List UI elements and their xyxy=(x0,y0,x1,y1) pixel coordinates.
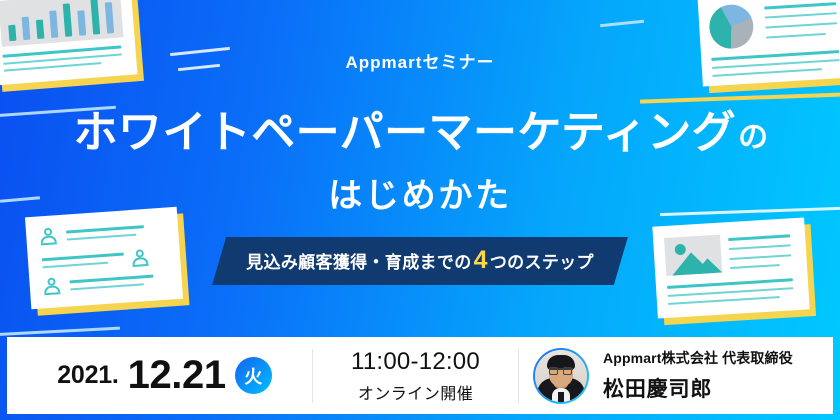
event-format: オンライン開催 xyxy=(358,380,473,404)
ribbon-text-before: 見込み顧客獲得・育成までの xyxy=(246,253,471,272)
ribbon-step-number: 4 xyxy=(472,246,490,274)
date-year: 2021. xyxy=(57,361,118,390)
ribbon-text-after: つのステップ xyxy=(490,253,594,272)
avatar xyxy=(533,348,589,404)
headline-underlined-text: ホワイトペーパーマーケティング xyxy=(71,96,738,160)
decor-line-2 xyxy=(0,327,120,337)
headline-line-2: はじめかた xyxy=(0,168,840,217)
pie-chart-icon xyxy=(697,0,840,86)
subtitle-ribbon-wrap: 見込み顧客獲得・育成までの4つのステップ xyxy=(0,237,840,285)
seminar-eyebrow: Appmartセミナー xyxy=(0,48,840,73)
date-month-day: 12.21 xyxy=(128,353,226,398)
avatar-photo xyxy=(535,350,587,402)
headline-tail-text: の xyxy=(738,121,768,154)
decor-card-pie-chart xyxy=(697,0,840,86)
event-date-block: 2021.12.21 火 xyxy=(7,353,312,398)
speaker-block: Appmart株式会社 代表取締役 松田慶司郎 xyxy=(519,348,833,404)
day-of-week-badge: 火 xyxy=(235,357,272,394)
event-time: 11:00-12:00 xyxy=(351,348,480,376)
event-info-bar: 2021.12.21 火 11:00-12:00 オンライン開催 xyxy=(7,337,833,414)
speaker-text: Appmart株式会社 代表取締役 松田慶司郎 xyxy=(603,348,793,403)
event-time-block: 11:00-12:00 オンライン開催 xyxy=(313,348,518,404)
speaker-role: Appmart株式会社 代表取締役 xyxy=(603,348,793,368)
seminar-banner: Appmartセミナー ホワイトペーパーマーケティングの はじめかた 見込み顧客… xyxy=(0,0,840,420)
decor-line-8 xyxy=(600,20,644,28)
subtitle-ribbon: 見込み顧客獲得・育成までの4つのステップ xyxy=(212,237,628,285)
speaker-name: 松田慶司郎 xyxy=(603,373,793,403)
headline-line-1: ホワイトペーパーマーケティングの xyxy=(0,96,840,160)
